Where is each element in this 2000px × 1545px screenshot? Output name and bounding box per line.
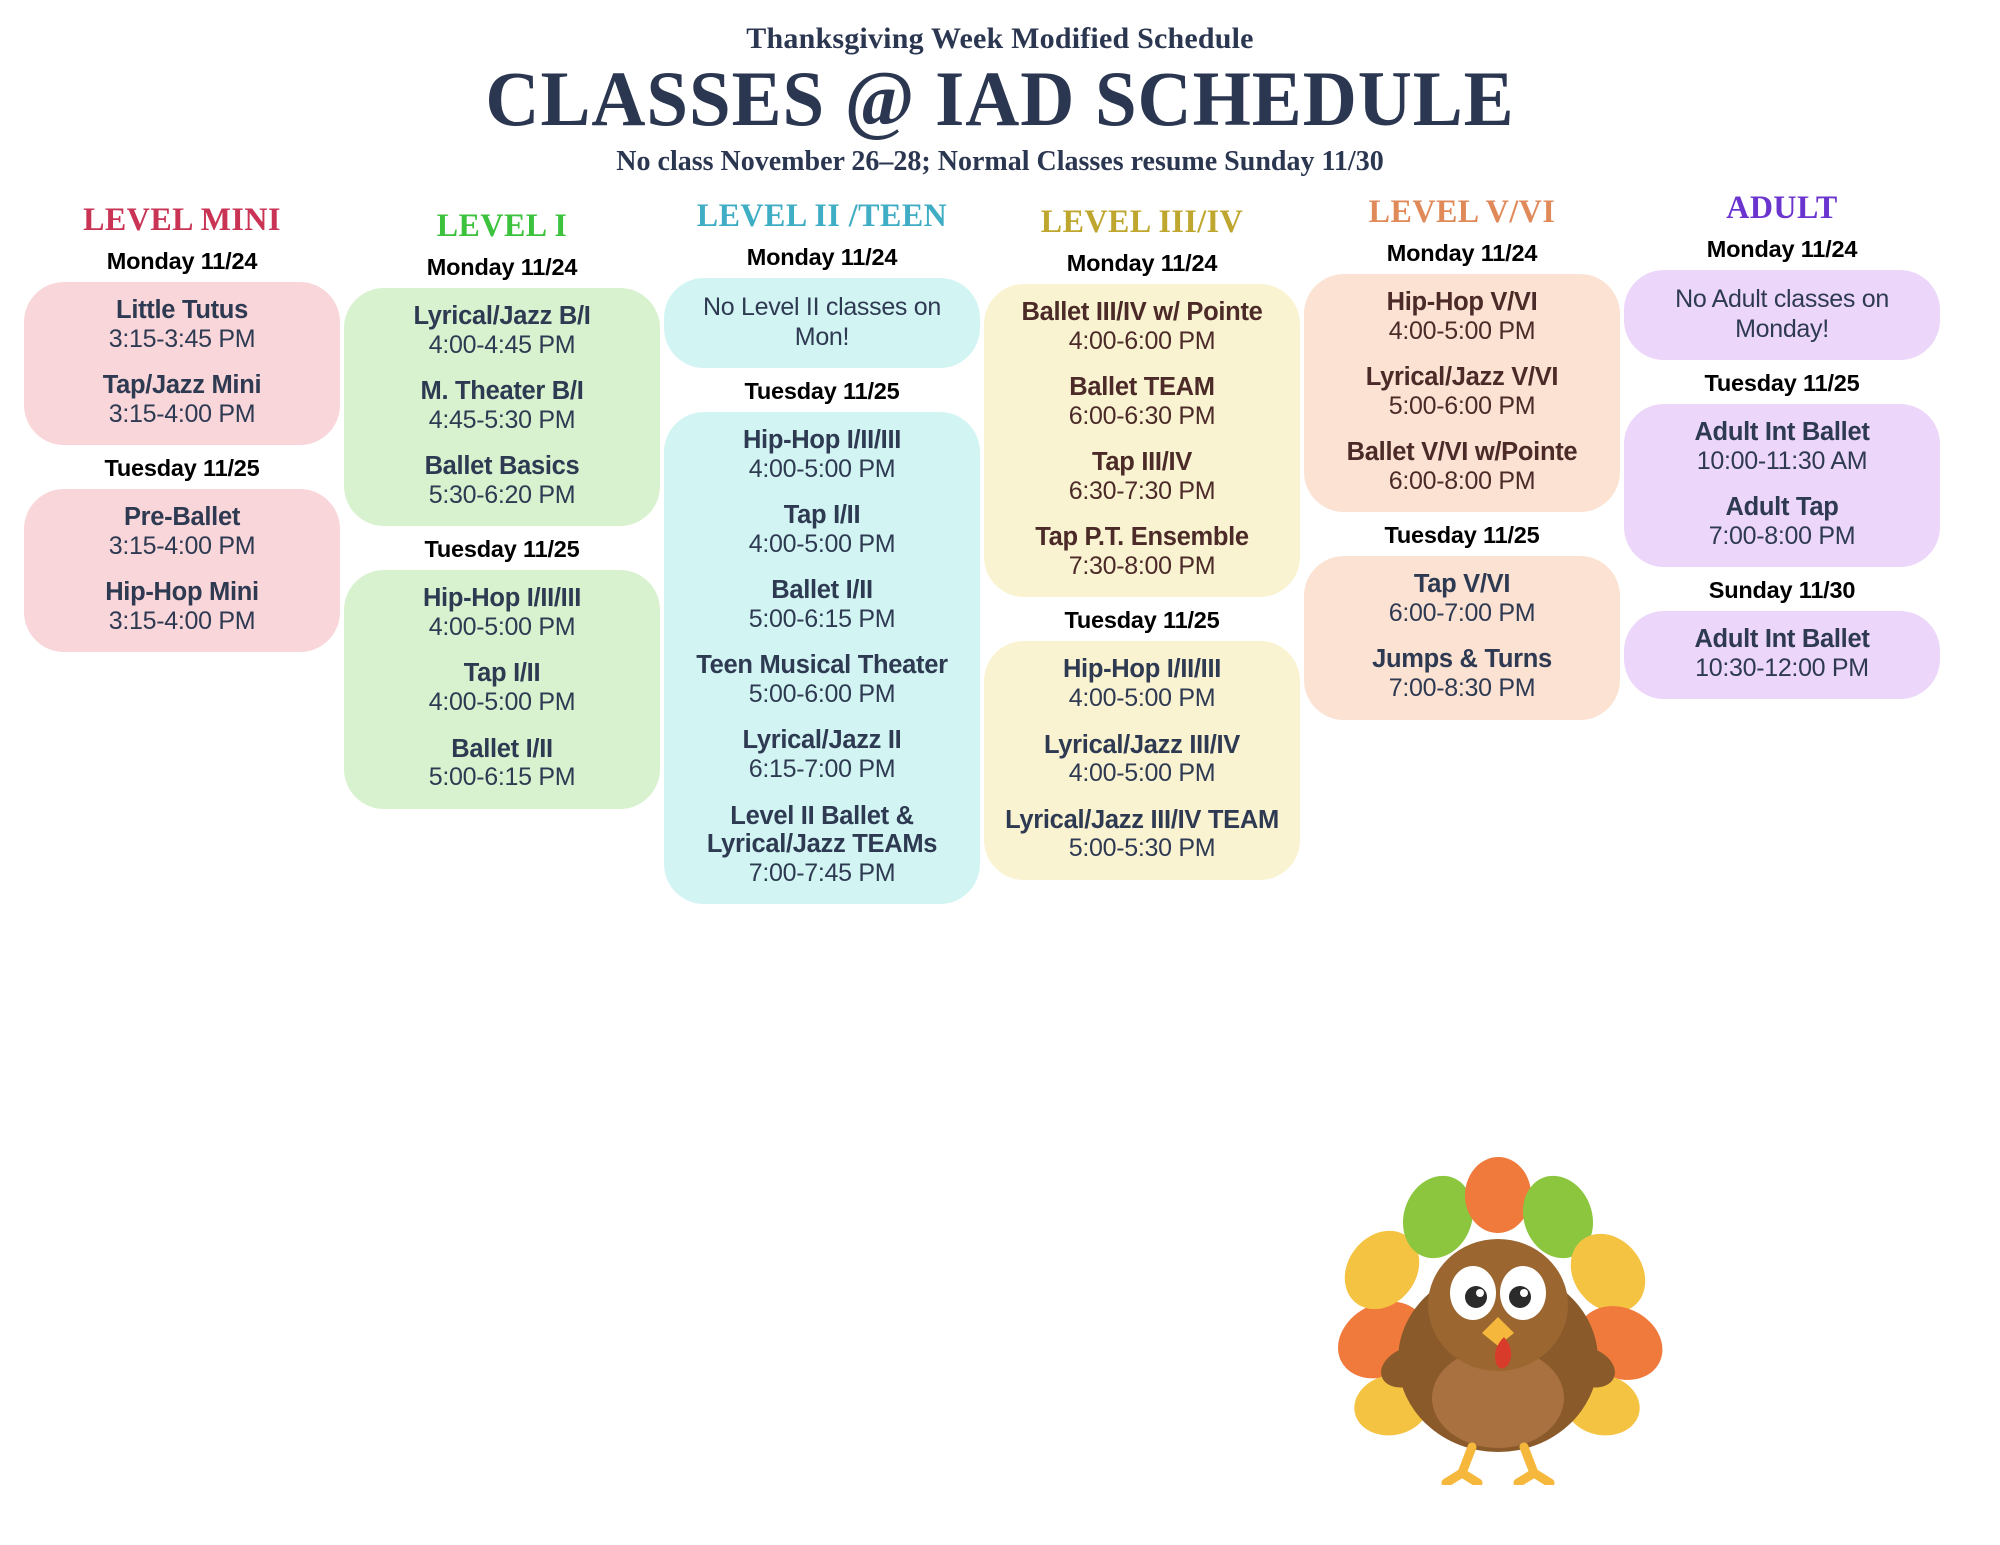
class-name: Hip-Hop I/II/III [356, 584, 648, 613]
class-entry: Ballet I/II5:00-6:15 PM [676, 576, 968, 634]
column-title: LEVEL II /TEEN [669, 198, 976, 234]
class-name: Ballet I/II [676, 576, 968, 605]
class-card[interactable]: Hip-Hop I/II/III4:00-5:00 PMTap I/II4:00… [664, 412, 980, 904]
class-entry: Pre-Ballet3:15-4:00 PM [36, 503, 328, 561]
class-time: 7:00-8:00 PM [1636, 522, 1928, 552]
class-entry: Ballet I/II5:00-6:15 PM [356, 735, 648, 793]
class-entry: Lyrical/Jazz V/VI5:00-6:00 PM [1316, 363, 1608, 421]
class-name: Adult Int Ballet [1636, 625, 1928, 654]
class-entry: Lyrical/Jazz III/IV4:00-5:00 PM [996, 731, 1288, 789]
schedule-column-level-ii-teen: LEVEL II /TEENMonday 11/24No Level II cl… [664, 198, 980, 904]
class-time: 5:00-6:00 PM [676, 680, 968, 710]
class-entry: Adult Int Ballet10:00-11:30 AM [1636, 418, 1928, 476]
day-label: Monday 11/24 [1304, 240, 1620, 267]
class-name: Tap I/II [356, 659, 648, 688]
class-card[interactable]: Hip-Hop I/II/III4:00-5:00 PMLyrical/Jazz… [984, 641, 1300, 879]
class-name: Tap P.T. Ensemble [996, 523, 1288, 552]
class-name: Lyrical/Jazz II [676, 726, 968, 755]
class-name: Hip-Hop I/II/III [676, 426, 968, 455]
class-entry: Ballet Basics5:30-6:20 PM [356, 452, 648, 510]
class-time: 6:00-8:00 PM [1316, 467, 1608, 497]
day-label: Tuesday 11/25 [24, 455, 340, 482]
class-time: 4:00-5:00 PM [996, 759, 1288, 789]
class-time: 6:00-7:00 PM [1316, 599, 1608, 629]
class-time: 7:00-7:45 PM [676, 859, 968, 889]
class-name: Tap/Jazz Mini [36, 371, 328, 400]
class-card[interactable]: Hip-Hop V/VI4:00-5:00 PMLyrical/Jazz V/V… [1304, 274, 1620, 512]
day-label: Sunday 11/30 [1624, 577, 1940, 604]
class-card[interactable]: No Level II classes on Mon! [664, 278, 980, 368]
schedule-poster: Thanksgiving Week Modified Schedule CLAS… [0, 0, 2000, 1545]
class-name: Tap I/II [676, 501, 968, 530]
day-label: Tuesday 11/25 [664, 378, 980, 405]
class-entry: Teen Musical Theater5:00-6:00 PM [676, 651, 968, 709]
schedule-columns: LEVEL MINIMonday 11/24Little Tutus3:15-3… [0, 178, 2000, 904]
header-kicker: Thanksgiving Week Modified Schedule [0, 22, 2000, 56]
class-card[interactable]: Pre-Ballet3:15-4:00 PMHip-Hop Mini3:15-4… [24, 489, 340, 652]
header-subtitle: No class November 26–28; Normal Classes … [0, 146, 2000, 178]
class-name: Lyrical/Jazz III/IV TEAM [996, 806, 1288, 835]
class-entry: Jumps & Turns7:00-8:30 PM [1316, 645, 1608, 703]
no-class-note: No Level II classes on Mon! [676, 292, 968, 352]
class-name: Ballet V/VI w/Pointe [1316, 438, 1608, 467]
class-card[interactable]: Adult Int Ballet10:00-11:30 AMAdult Tap7… [1624, 404, 1940, 567]
class-name: Pre-Ballet [36, 503, 328, 532]
class-time: 4:00-6:00 PM [996, 327, 1288, 357]
class-card[interactable]: Ballet III/IV w/ Pointe4:00-6:00 PMBalle… [984, 284, 1300, 597]
class-name: Little Tutus [36, 296, 328, 325]
class-entry: Little Tutus3:15-3:45 PM [36, 296, 328, 354]
day-label: Tuesday 11/25 [984, 607, 1300, 634]
class-entry: Ballet V/VI w/Pointe6:00-8:00 PM [1316, 438, 1608, 496]
class-time: 5:00-5:30 PM [996, 834, 1288, 864]
class-name: Tap V/VI [1316, 570, 1608, 599]
class-entry: Hip-Hop I/II/III4:00-5:00 PM [996, 655, 1288, 713]
class-name: Lyrical/Jazz III/IV [996, 731, 1288, 760]
class-time: 4:45-5:30 PM [356, 406, 648, 436]
class-time: 4:00-5:00 PM [356, 688, 648, 718]
class-name: Adult Int Ballet [1636, 418, 1928, 447]
class-time: 5:00-6:00 PM [1316, 392, 1608, 422]
class-time: 7:30-8:00 PM [996, 552, 1288, 582]
day-label: Tuesday 11/25 [1304, 522, 1620, 549]
class-time: 3:15-4:00 PM [36, 607, 328, 637]
no-class-note: No Adult classes on Monday! [1636, 284, 1928, 344]
column-title: LEVEL V/VI [1309, 194, 1616, 230]
class-name: Ballet III/IV w/ Pointe [996, 298, 1288, 327]
class-entry: Lyrical/Jazz II6:15-7:00 PM [676, 726, 968, 784]
class-name: Ballet I/II [356, 735, 648, 764]
day-label: Tuesday 11/25 [1624, 370, 1940, 397]
class-name: Adult Tap [1636, 493, 1928, 522]
class-entry: Hip-Hop I/II/III4:00-5:00 PM [676, 426, 968, 484]
class-entry: Tap V/VI6:00-7:00 PM [1316, 570, 1608, 628]
class-time: 6:15-7:00 PM [676, 755, 968, 785]
class-name: Tap III/IV [996, 448, 1288, 477]
class-time: 4:00-4:45 PM [356, 331, 648, 361]
class-name: Lyrical/Jazz V/VI [1316, 363, 1608, 392]
class-entry: Lyrical/Jazz III/IV TEAM5:00-5:30 PM [996, 806, 1288, 864]
class-entry: Level II Ballet & Lyrical/Jazz TEAMs7:00… [676, 802, 968, 889]
class-card[interactable]: Lyrical/Jazz B/I4:00-4:45 PMM. Theater B… [344, 288, 660, 526]
class-name: Jumps & Turns [1316, 645, 1608, 674]
day-label: Monday 11/24 [344, 254, 660, 281]
class-entry: Hip-Hop V/VI4:00-5:00 PM [1316, 288, 1608, 346]
day-label: Monday 11/24 [984, 250, 1300, 277]
class-time: 7:00-8:30 PM [1316, 674, 1608, 704]
day-label: Monday 11/24 [1624, 236, 1940, 263]
column-title: LEVEL MINI [29, 202, 336, 238]
class-time: 4:00-5:00 PM [1316, 317, 1608, 347]
class-time: 5:00-6:15 PM [356, 763, 648, 793]
class-name: Hip-Hop V/VI [1316, 288, 1608, 317]
class-card[interactable]: No Adult classes on Monday! [1624, 270, 1940, 360]
class-name: Lyrical/Jazz B/I [356, 302, 648, 331]
class-time: 3:15-4:00 PM [36, 400, 328, 430]
page-title: CLASSES @ IAD SCHEDULE [40, 60, 1960, 138]
day-label: Monday 11/24 [24, 248, 340, 275]
class-time: 4:00-5:00 PM [676, 530, 968, 560]
class-name: Ballet Basics [356, 452, 648, 481]
class-time: 4:00-5:00 PM [996, 684, 1288, 714]
schedule-column-adult: ADULTMonday 11/24No Adult classes on Mon… [1624, 190, 1940, 699]
class-name: Teen Musical Theater [676, 651, 968, 680]
class-time: 3:15-3:45 PM [36, 325, 328, 355]
class-time: 4:00-5:00 PM [676, 455, 968, 485]
class-name: Ballet TEAM [996, 373, 1288, 402]
schedule-column-level-v-vi: LEVEL V/VIMonday 11/24Hip-Hop V/VI4:00-5… [1304, 194, 1620, 720]
schedule-column-level-i: LEVEL IMonday 11/24Lyrical/Jazz B/I4:00-… [344, 208, 660, 809]
class-time: 3:15-4:00 PM [36, 532, 328, 562]
class-entry: Lyrical/Jazz B/I4:00-4:45 PM [356, 302, 648, 360]
class-card[interactable]: Tap V/VI6:00-7:00 PMJumps & Turns7:00-8:… [1304, 556, 1620, 719]
class-entry: Adult Int Ballet10:30-12:00 PM [1636, 625, 1928, 683]
schedule-column-level-mini: LEVEL MINIMonday 11/24Little Tutus3:15-3… [24, 202, 340, 652]
class-time: 10:30-12:00 PM [1636, 654, 1928, 684]
class-card[interactable]: Little Tutus3:15-3:45 PMTap/Jazz Mini3:1… [24, 282, 340, 445]
day-label: Monday 11/24 [664, 244, 980, 271]
day-label: Tuesday 11/25 [344, 536, 660, 563]
class-time: 5:00-6:15 PM [676, 605, 968, 635]
column-title: LEVEL III/IV [989, 204, 1296, 240]
class-time: 10:00-11:30 AM [1636, 447, 1928, 477]
turkey-illustration [1290, 1155, 1690, 1485]
class-entry: Tap/Jazz Mini3:15-4:00 PM [36, 371, 328, 429]
schedule-column-level-iii-iv: LEVEL III/IVMonday 11/24Ballet III/IV w/… [984, 204, 1300, 880]
class-entry: Tap I/II4:00-5:00 PM [676, 501, 968, 559]
class-card[interactable]: Hip-Hop I/II/III4:00-5:00 PMTap I/II4:00… [344, 570, 660, 808]
class-name: Hip-Hop Mini [36, 578, 328, 607]
class-time: 6:00-6:30 PM [996, 402, 1288, 432]
class-entry: Hip-Hop Mini3:15-4:00 PM [36, 578, 328, 636]
poster-header: Thanksgiving Week Modified Schedule CLAS… [0, 0, 2000, 178]
class-time: 5:30-6:20 PM [356, 481, 648, 511]
class-card[interactable]: Adult Int Ballet10:30-12:00 PM [1624, 611, 1940, 699]
class-name: Hip-Hop I/II/III [996, 655, 1288, 684]
class-time: 6:30-7:30 PM [996, 477, 1288, 507]
column-title: ADULT [1629, 190, 1936, 226]
class-entry: Tap I/II4:00-5:00 PM [356, 659, 648, 717]
class-name: Level II Ballet & Lyrical/Jazz TEAMs [676, 802, 968, 859]
class-entry: Ballet III/IV w/ Pointe4:00-6:00 PM [996, 298, 1288, 356]
class-entry: Tap P.T. Ensemble7:30-8:00 PM [996, 523, 1288, 581]
column-title: LEVEL I [349, 208, 656, 244]
class-entry: Tap III/IV6:30-7:30 PM [996, 448, 1288, 506]
class-name: M. Theater B/I [356, 377, 648, 406]
class-entry: Ballet TEAM6:00-6:30 PM [996, 373, 1288, 431]
class-entry: Hip-Hop I/II/III4:00-5:00 PM [356, 584, 648, 642]
class-entry: M. Theater B/I4:45-5:30 PM [356, 377, 648, 435]
class-time: 4:00-5:00 PM [356, 613, 648, 643]
class-entry: Adult Tap7:00-8:00 PM [1636, 493, 1928, 551]
